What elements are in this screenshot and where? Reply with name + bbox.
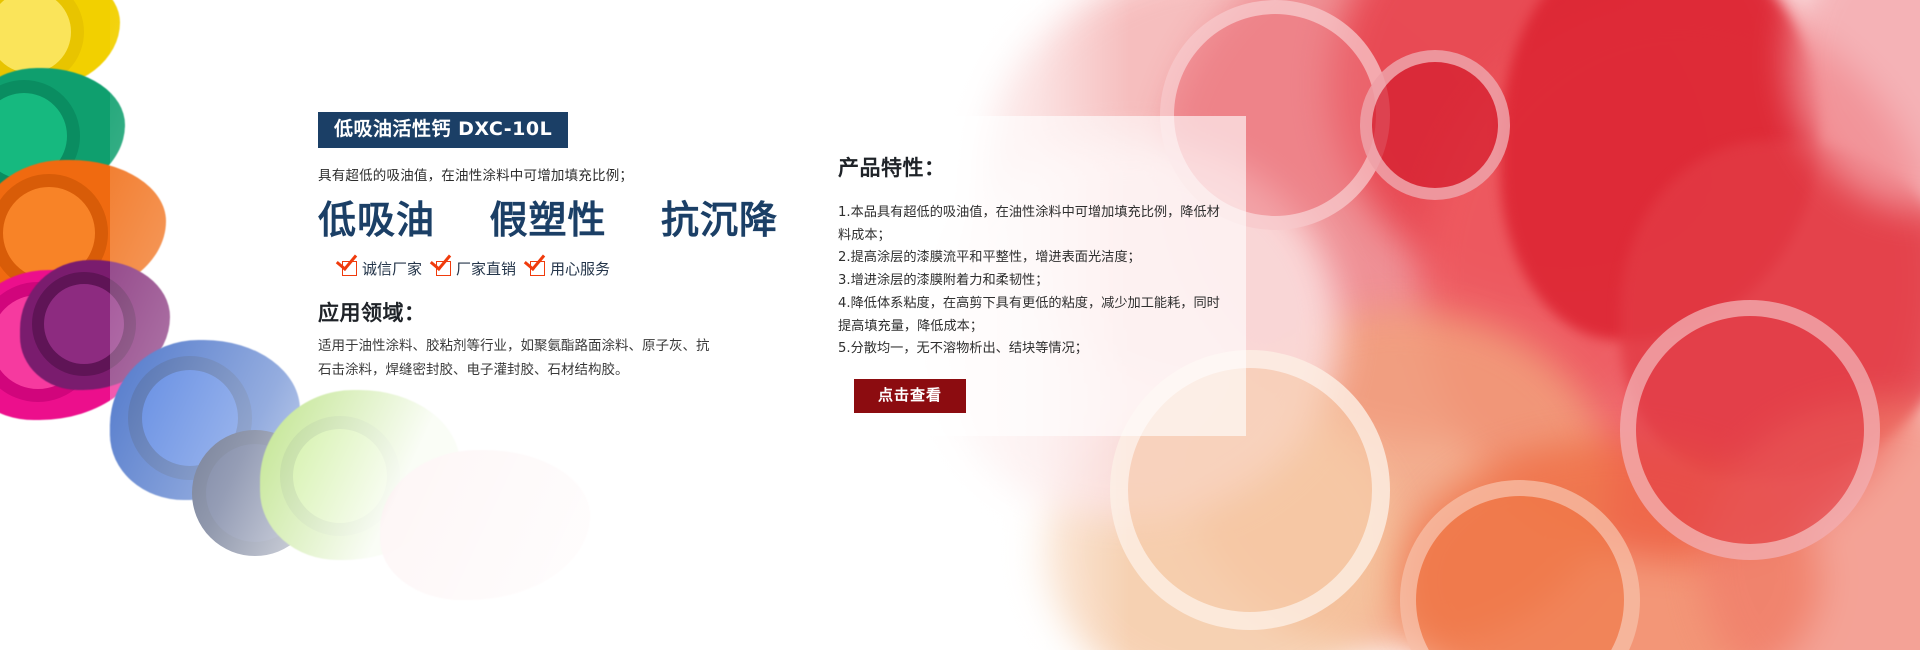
promo-banner: 低吸油活性钙 DXC-10L 具有超低的吸油值，在油性涂料中可增加填充比例； 低… <box>0 0 1920 650</box>
product-lede-text: 具有超低的吸油值，在油性涂料中可增加填充比例； <box>318 166 738 186</box>
application-section-title: 应用领域： <box>318 297 738 327</box>
selling-point-label: 诚信厂家 <box>362 258 422 279</box>
paint-pot <box>0 174 108 292</box>
features-panel-title: 产品特性： <box>838 152 1220 182</box>
selling-point-3: 用心服务 <box>530 258 610 279</box>
feature-item: 4.降低体系粘度，在高剪下具有更低的粘度，减少加工能耗，同时提高填充量，降低成本… <box>838 293 1220 338</box>
features-list: 1.本品具有超低的吸油值，在油性涂料中可增加填充比例，降低材料成本； 2.提高涂… <box>838 202 1220 361</box>
selling-point-label: 用心服务 <box>550 258 610 279</box>
headline-word-3: 抗沉降 <box>661 200 778 242</box>
paint-pot <box>32 272 136 376</box>
selling-point-label: 厂家直销 <box>456 258 516 279</box>
paint-dish-ring <box>1400 480 1640 650</box>
left-content-column: 低吸油活性钙 DXC-10L 具有超低的吸油值，在油性涂料中可增加填充比例； 低… <box>318 112 738 382</box>
feature-item: 1.本品具有超低的吸油值，在油性涂料中可增加填充比例，降低材料成本； <box>838 202 1220 247</box>
paint-dish-ring <box>1360 50 1510 200</box>
selling-point-1: 诚信厂家 <box>342 258 422 279</box>
application-section-body: 适用于油性涂料、胶粘剂等行业，如聚氨酯路面涂料、原子灰、抗石击涂料，焊缝密封胶、… <box>318 335 718 382</box>
paint-pot <box>0 0 84 86</box>
headline-keywords: 低吸油 假塑性 抗沉降 <box>318 200 738 242</box>
feature-item: 3.增进涂层的漆膜附着力和柔韧性； <box>838 270 1220 293</box>
paint-pot <box>0 80 80 192</box>
paint-pot <box>0 282 98 402</box>
product-title-chip: 低吸油活性钙 DXC-10L <box>318 112 568 148</box>
feature-item: 5.分散均一，无不溶物析出、结块等情况； <box>838 338 1220 361</box>
selling-point-2: 厂家直销 <box>436 258 516 279</box>
paint-pot <box>280 416 400 536</box>
selling-points-row: 诚信厂家 厂家直销 用心服务 <box>342 258 738 279</box>
checkbox-checked-icon <box>530 261 545 276</box>
view-details-button[interactable]: 点击查看 <box>854 379 966 413</box>
paint-dish-ring <box>1620 300 1880 560</box>
product-features-panel: 产品特性： 1.本品具有超低的吸油值，在油性涂料中可增加填充比例，降低材料成本；… <box>806 116 1246 436</box>
paint-pot <box>128 356 252 480</box>
checkbox-checked-icon <box>342 261 357 276</box>
checkbox-checked-icon <box>436 261 451 276</box>
headline-word-1: 低吸油 <box>318 200 435 242</box>
feature-item: 2.提高涂层的漆膜流平和平整性，增进表面光洁度； <box>838 247 1220 270</box>
paint-pot <box>192 430 318 556</box>
headline-word-2: 假塑性 <box>489 200 606 242</box>
